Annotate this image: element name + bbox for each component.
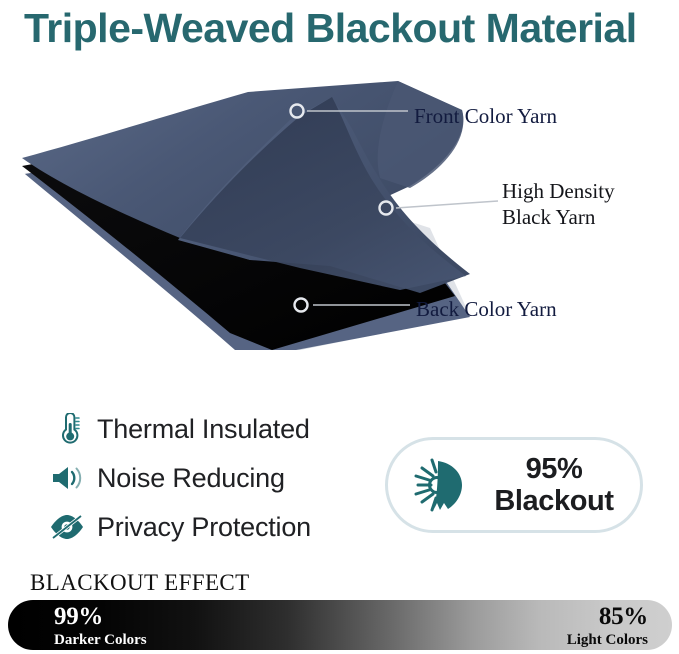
blackout-badge-text: 95% Blackout: [476, 453, 640, 517]
callout-label-middle-line2: Black Yarn: [502, 205, 595, 229]
feature-list: Thermal Insulated Noise Reducing Privacy…: [46, 406, 366, 553]
feature-item-thermal: Thermal Insulated: [46, 406, 366, 452]
eye-slash-icon: [46, 507, 88, 547]
darker-label: Darker Colors: [54, 633, 147, 648]
feature-label-thermal: Thermal Insulated: [88, 414, 310, 445]
sun-blocked-icon: [402, 454, 476, 516]
blackout-effect-title: BLACKOUT EFFECT: [30, 570, 250, 596]
callout-label-front: Front Color Yarn: [414, 103, 557, 129]
callout-label-back: Back Color Yarn: [416, 296, 557, 322]
feature-item-noise: Noise Reducing: [46, 455, 366, 501]
blackout-percent: 95%: [526, 453, 583, 485]
blackout-badge: 95% Blackout: [385, 437, 643, 533]
feature-item-privacy: Privacy Protection: [46, 504, 366, 550]
feature-label-noise: Noise Reducing: [88, 463, 285, 494]
light-label: Light Colors: [567, 633, 648, 648]
leader-line-middle: [396, 201, 498, 208]
callout-label-middle-line1: High Density: [502, 179, 615, 203]
gradient-stat-light: 85% Light Colors: [567, 604, 648, 648]
light-percent: 85%: [567, 604, 648, 629]
darker-percent: 99%: [54, 604, 147, 629]
callout-label-middle: High Density Black Yarn: [502, 178, 615, 230]
speaker-sound-icon: [46, 458, 88, 498]
gradient-stat-darker: 99% Darker Colors: [54, 604, 147, 648]
blackout-gradient-bar: 99% Darker Colors 85% Light Colors: [8, 600, 672, 650]
blackout-label: Blackout: [494, 485, 613, 517]
thermometer-icon: [46, 409, 88, 449]
feature-label-privacy: Privacy Protection: [88, 512, 311, 543]
page-title: Triple-Weaved Blackout Material: [24, 0, 664, 60]
